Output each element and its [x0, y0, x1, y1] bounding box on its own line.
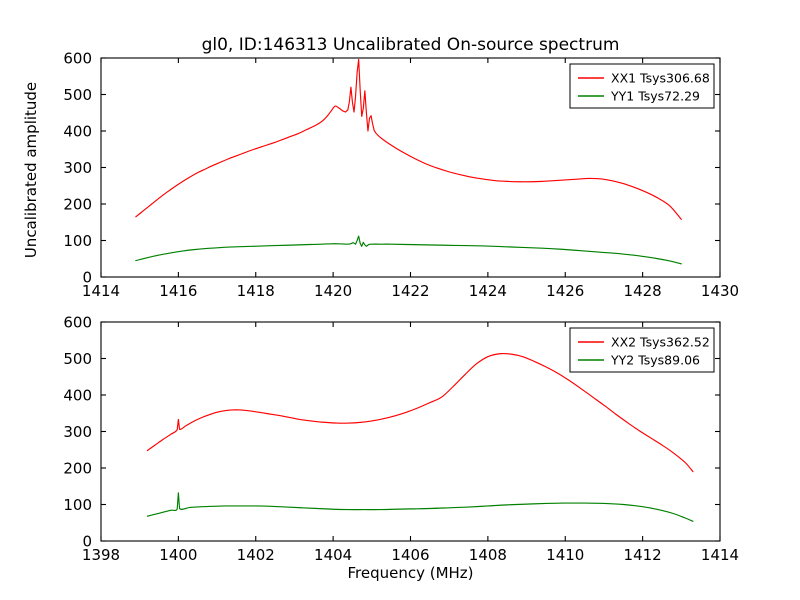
x-axis-label: Frequency (MHz)	[347, 564, 473, 582]
y-tick-label: 100	[63, 496, 92, 514]
y-tick-label: 100	[63, 232, 92, 250]
x-tick-label: 1418	[237, 282, 275, 300]
x-tick-label: 1408	[469, 546, 507, 564]
y-tick-label: 500	[63, 350, 92, 368]
y-tick-label: 400	[63, 123, 92, 141]
legend: XX2 Tsys362.52YY2 Tsys89.06	[570, 328, 714, 372]
x-tick-label: 1430	[701, 282, 739, 300]
x-tick-label: 1410	[546, 546, 584, 564]
legend: XX1 Tsys306.68YY1 Tsys72.29	[570, 64, 714, 108]
x-tick-label: 1416	[159, 282, 197, 300]
plot-panel-bottom-panel: 1398140014021404140614081410141214140100…	[63, 314, 739, 565]
y-axis-label: Uncalibrated amplitude	[22, 82, 40, 258]
x-tick-label: 1404	[314, 546, 352, 564]
y-tick-label: 200	[63, 460, 92, 478]
x-tick-label: 1424	[469, 282, 507, 300]
spectrum-figure: 1414141614181420142214241426142814300100…	[0, 0, 800, 600]
plot-panel-top-panel: 1414141614181420142214241426142814300100…	[63, 50, 739, 301]
y-tick-label: 0	[82, 269, 92, 287]
x-tick-label: 1400	[159, 546, 197, 564]
y-tick-label: 400	[63, 387, 92, 405]
y-tick-label: 500	[63, 86, 92, 104]
legend-label-xx1: XX1 Tsys306.68	[611, 71, 710, 86]
legend-label-yy2: YY2 Tsys89.06	[610, 353, 700, 368]
panels-group: 1414141614181420142214241426142814300100…	[63, 50, 739, 565]
x-tick-label: 1426	[546, 282, 584, 300]
x-tick-label: 1402	[237, 546, 275, 564]
x-tick-label: 1428	[624, 282, 662, 300]
x-tick-label: 1414	[701, 546, 739, 564]
y-tick-label: 600	[63, 314, 92, 332]
x-tick-label: 1412	[624, 546, 662, 564]
legend-label-yy1: YY1 Tsys72.29	[610, 89, 700, 104]
x-tick-label: 1420	[314, 282, 352, 300]
y-tick-label: 200	[63, 196, 92, 214]
plot-canvas: 1414141614181420142214241426142814300100…	[0, 0, 800, 600]
y-tick-label: 0	[82, 533, 92, 551]
x-tick-label: 1422	[391, 282, 429, 300]
page-title: gl0, ID:146313 Uncalibrated On-source sp…	[202, 35, 620, 55]
legend-label-xx2: XX2 Tsys362.52	[611, 335, 710, 350]
y-tick-label: 300	[63, 423, 92, 441]
x-tick-label: 1406	[391, 546, 429, 564]
y-tick-label: 300	[63, 159, 92, 177]
y-tick-label: 600	[63, 50, 92, 68]
